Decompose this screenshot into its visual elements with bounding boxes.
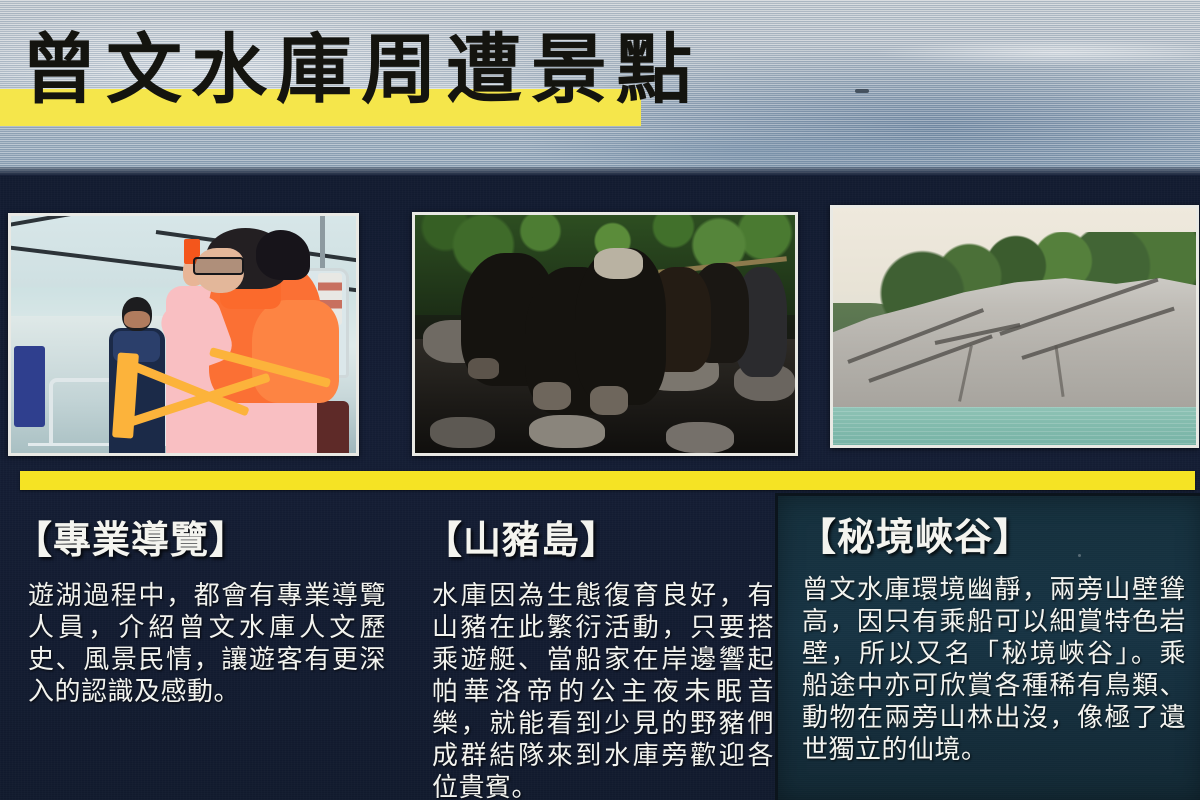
section-wild-boar-island: 【山豬島】 水庫因為生態復育良好，有山豬在此繁衍活動，只要搭乘遊艇、當船家在岸邊… (424, 518, 774, 800)
photo-tour-guide-on-boat (8, 213, 359, 456)
photo-wild-boars-on-rocks (412, 212, 798, 456)
page-title: 曾文水庫周遭景點 (21, 27, 661, 119)
section-secret-canyon: 【秘境峽谷】 曾文水庫環境幽靜，兩旁山壁聳高，因只有乘船可以細賞特色岩壁，所以又… (775, 493, 1200, 800)
guide-figure (163, 228, 342, 453)
section-body-text: 遊湖過程中，都會有專業導覽人員，介紹曾文水庫人文歷史、風景民情，讓遊客有更深入的… (14, 580, 386, 708)
section-heading: 【專業導覽】 (14, 518, 386, 562)
photo-canyon-cliff-over-water (830, 205, 1199, 448)
section-body-text: 曾文水庫環境幽靜，兩旁山壁聳高，因只有乘船可以細賞特色岩壁，所以又名「秘境峽谷」… (802, 574, 1186, 766)
info-board: 曾文水庫周遭景點 (0, 0, 1200, 800)
section-professional-guide: 【專業導覽】 遊湖過程中，都會有專業導覽人員，介紹曾文水庫人文歷史、風景民情，讓… (14, 518, 386, 708)
section-body-text: 水庫因為生態復育良好，有山豬在此繁衍活動，只要搭乘遊艇、當船家在岸邊響起帕華洛帝… (424, 580, 774, 800)
header-bottom-edge (0, 167, 1200, 176)
section-heading: 【山豬島】 (424, 518, 774, 562)
section-heading: 【秘境峽谷】 (798, 515, 1032, 559)
distant-boat-speck-icon (855, 89, 869, 93)
yellow-divider-bar (20, 471, 1195, 490)
